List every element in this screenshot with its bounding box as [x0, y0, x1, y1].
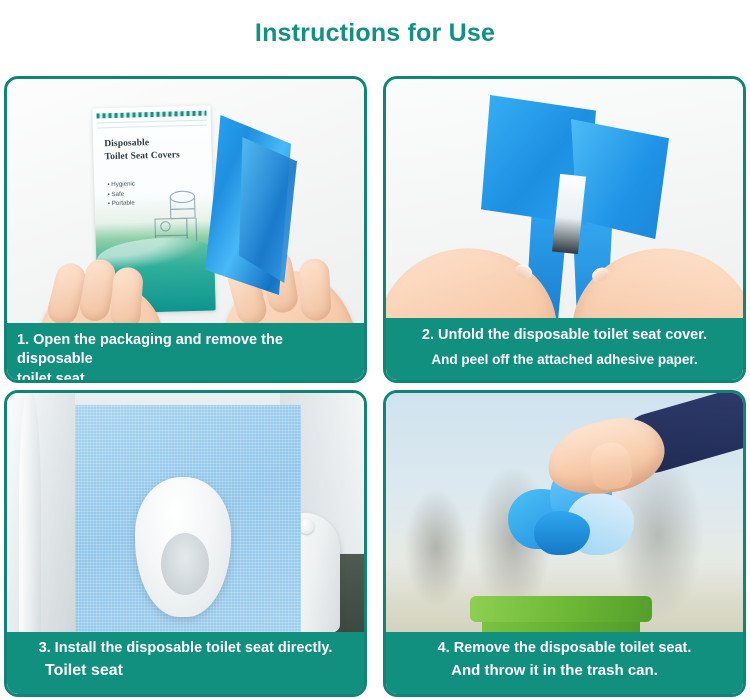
finger — [299, 258, 332, 321]
step-3-caption-line-2: Toilet seat — [7, 658, 364, 680]
trash-bin-lid — [470, 596, 652, 622]
step-4-caption-line-1: 4. Remove the disposable toilet seat. — [386, 632, 743, 658]
flush-button — [299, 519, 314, 534]
step-2-caption-line-2: And peel off the attached adhesive paper… — [386, 345, 743, 369]
step-3-caption: 3. Install the disposable toilet seat di… — [7, 632, 364, 694]
step-4-caption: 4. Remove the disposable toilet seat. An… — [386, 632, 743, 694]
blurred-tree — [404, 488, 468, 608]
package-title: Disposable Toilet Seat Covers — [104, 136, 206, 164]
step-2-caption-line-1: 2. Unfold the disposable toilet seat cov… — [386, 318, 743, 345]
step-3-caption-line-1: 3. Install the disposable toilet seat di… — [7, 632, 364, 658]
package-feature-hygienic: Hygienic — [107, 179, 135, 189]
package-feature-portable: Portable — [108, 198, 136, 208]
package-zipper — [96, 111, 206, 119]
package-feature-list: Hygienic Safe Portable — [107, 179, 135, 208]
package-seam-line — [97, 125, 207, 129]
page-title: Instructions for Use — [0, 18, 750, 48]
finger — [110, 266, 144, 330]
step-1-caption-line-1: 1. Open the packaging and remove the dis… — [7, 323, 364, 369]
instruction-card-step-2[interactable]: 2. Unfold the disposable toilet seat cov… — [383, 76, 746, 383]
instruction-card-step-1[interactable]: Disposable Toilet Seat Covers Hygienic S… — [4, 76, 367, 383]
step-2-caption: 2. Unfold the disposable toilet seat cov… — [386, 318, 743, 380]
step-1-caption-line-2: toilet seat. — [7, 369, 364, 383]
package-seam-line — [97, 120, 207, 124]
step-1-caption: 1. Open the packaging and remove the dis… — [7, 323, 364, 380]
toilet-bowl — [161, 533, 209, 595]
instruction-card-grid: Disposable Toilet Seat Covers Hygienic S… — [4, 76, 746, 697]
step-4-caption-line-2: And throw it in the trash can. — [386, 658, 743, 680]
instruction-card-step-3[interactable]: 3. Install the disposable toilet seat di… — [4, 390, 367, 697]
package-title-line-2: Toilet Seat Covers — [104, 148, 205, 163]
instruction-card-step-4[interactable]: 4. Remove the disposable toilet seat. An… — [383, 390, 746, 697]
